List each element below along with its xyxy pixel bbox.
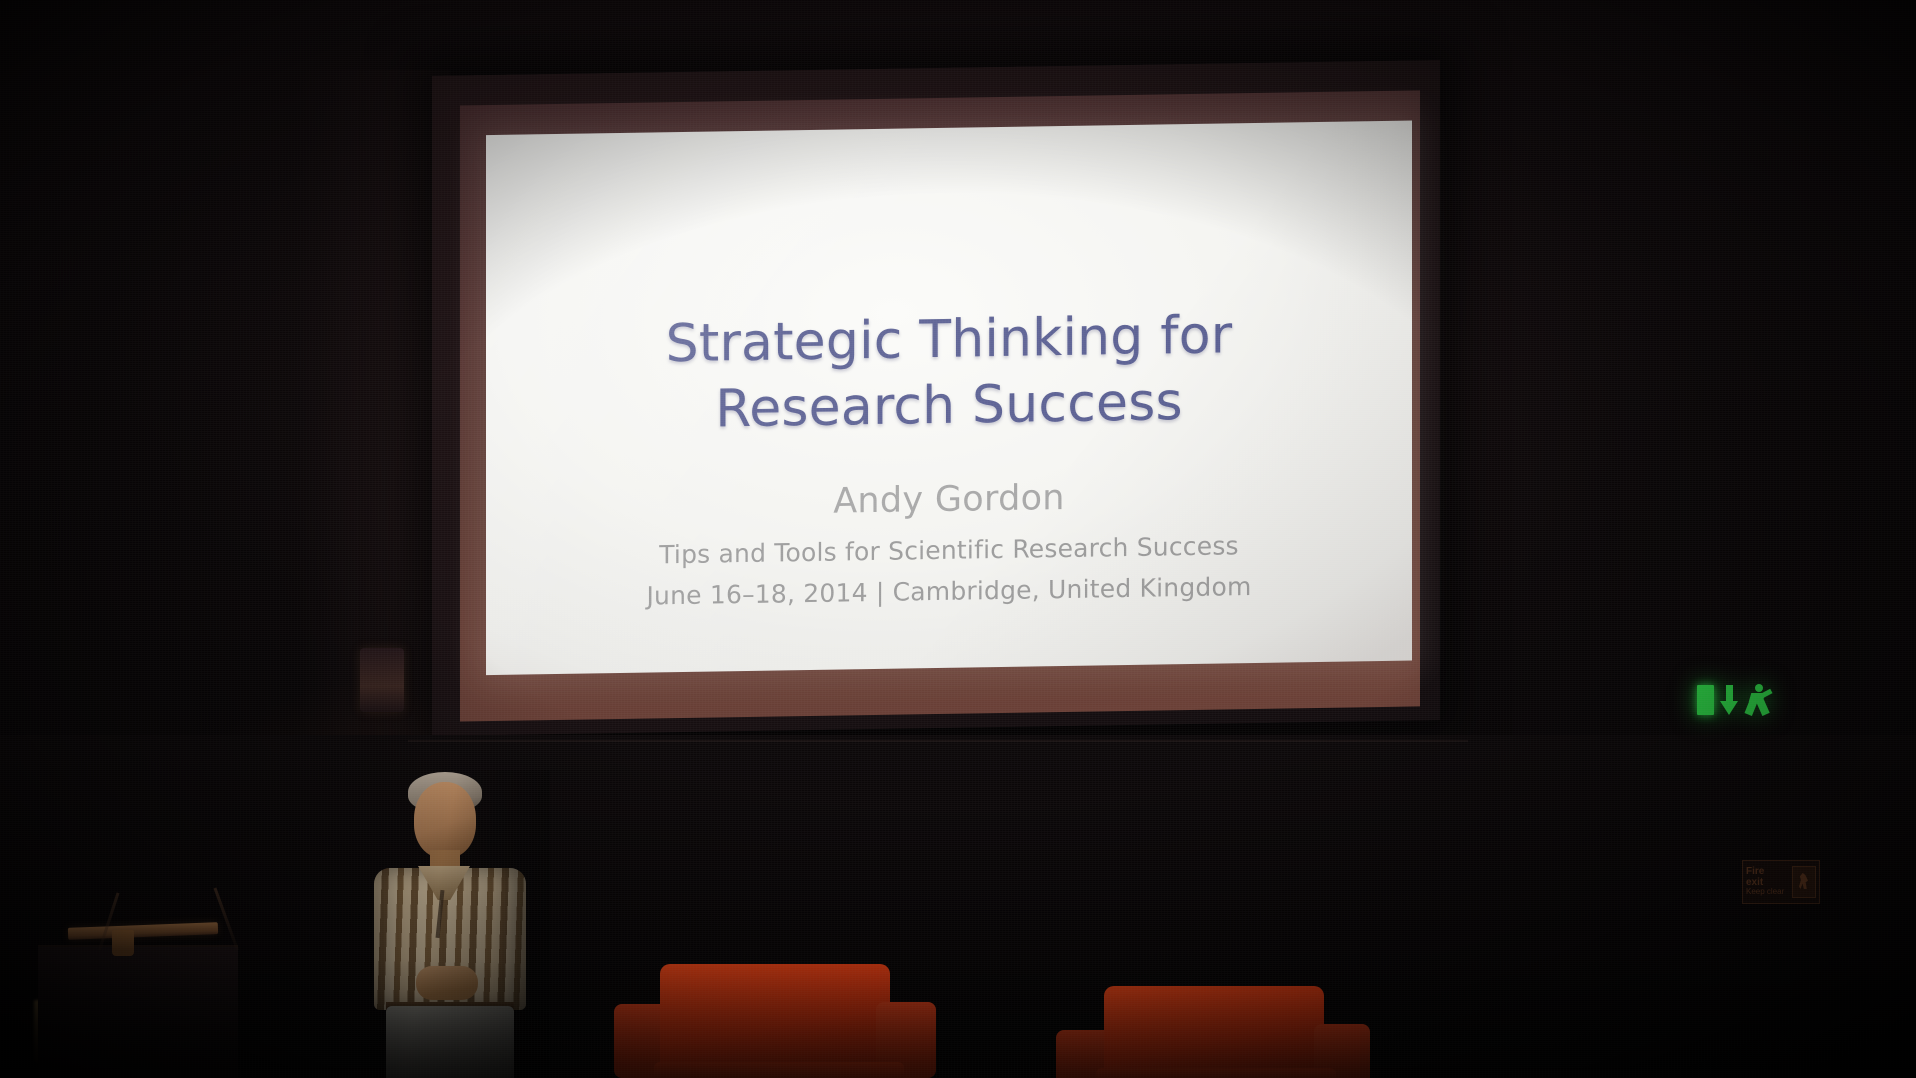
presentation-slide: Strategic Thinking for Research Success … — [486, 121, 1412, 676]
slide-title: Strategic Thinking for Research Success — [666, 304, 1233, 444]
slide-subtitle: Tips and Tools for Scientific Research S… — [659, 531, 1239, 569]
door-icon — [1697, 685, 1714, 715]
slide-title-line-2: Research Success — [666, 369, 1233, 443]
fire-exit-keep-clear-sign: Fire exit Keep clear — [1742, 860, 1820, 904]
armchair-seat — [654, 1062, 904, 1078]
armchair-seat — [1096, 1068, 1336, 1078]
down-arrow-icon — [1719, 684, 1739, 716]
wall-fixture — [360, 648, 404, 712]
running-person-icon — [1744, 684, 1772, 716]
fire-sign-line-3: Keep clear — [1746, 888, 1789, 896]
projection-screen-surface: Strategic Thinking for Research Success … — [486, 121, 1412, 676]
lectern — [38, 945, 238, 1078]
presenter-hands — [416, 966, 478, 1000]
projection-screen-frame: Strategic Thinking for Research Success … — [432, 60, 1440, 736]
red-armchair-right — [1046, 968, 1378, 1078]
presenter — [360, 770, 550, 1078]
emergency-exit-sign — [1697, 683, 1789, 717]
auditorium-photo: Strategic Thinking for Research Success … — [0, 0, 1916, 1078]
drinking-cup — [112, 930, 134, 956]
slide-title-line-1: Strategic Thinking for — [666, 304, 1233, 378]
armchair-back — [660, 964, 890, 1074]
armchair-back — [1104, 986, 1324, 1078]
red-armchair-left — [614, 958, 960, 1078]
fire-exit-sign-text: Fire exit Keep clear — [1746, 867, 1789, 896]
projection-screen-bezel: Strategic Thinking for Research Success … — [460, 90, 1420, 721]
presenter-head — [414, 782, 476, 858]
running-person-icon — [1792, 866, 1816, 898]
slide-author: Andy Gordon — [833, 477, 1065, 521]
wall-seam — [408, 740, 1468, 742]
slide-event-meta: June 16–18, 2014 | Cambridge, United Kin… — [646, 572, 1251, 611]
presenter-jeans — [386, 1006, 514, 1078]
